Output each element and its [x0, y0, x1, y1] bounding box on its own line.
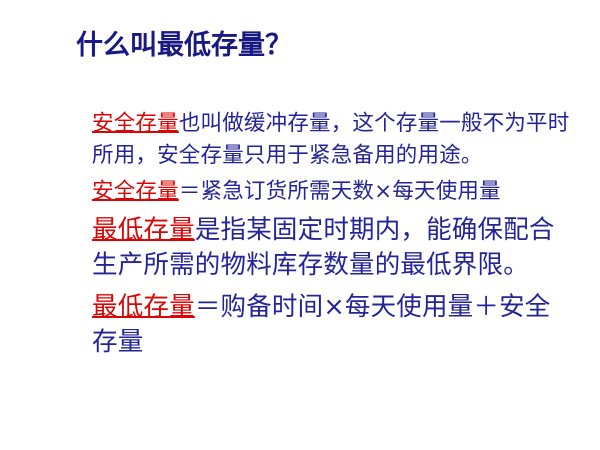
- slide-body: 安全存量也叫做缓冲存量，这个存量一般不为平时所用，安全存量只用于紧急备用的用途。…: [92, 108, 572, 362]
- paragraph-3: 最低存量是指某固定时期内，能确保配合生产所需的物料库存数量的最低界限。: [92, 213, 572, 283]
- keyword-minimum-stock-1: 最低存量: [92, 215, 195, 245]
- paragraph-1: 安全存量也叫做缓冲存量，这个存量一般不为平时所用，安全存量只用于紧急备用的用途。: [92, 108, 572, 172]
- paragraph-2-text: ＝紧急订货所需天数×每天使用量: [179, 179, 501, 204]
- keyword-minimum-stock-2: 最低存量: [92, 292, 195, 322]
- keyword-safety-stock-1: 安全存量: [92, 111, 179, 136]
- presentation-slide: 什么叫最低存量？ 安全存量也叫做缓冲存量，这个存量一般不为平时所用，安全存量只用…: [0, 0, 600, 450]
- paragraph-4: 最低存量＝购备时间×每天使用量＋安全存量: [92, 290, 572, 360]
- page-title: 什么叫最低存量？: [76, 30, 292, 62]
- keyword-safety-stock-2: 安全存量: [92, 179, 179, 204]
- paragraph-2: 安全存量＝紧急订货所需天数×每天使用量: [92, 176, 572, 208]
